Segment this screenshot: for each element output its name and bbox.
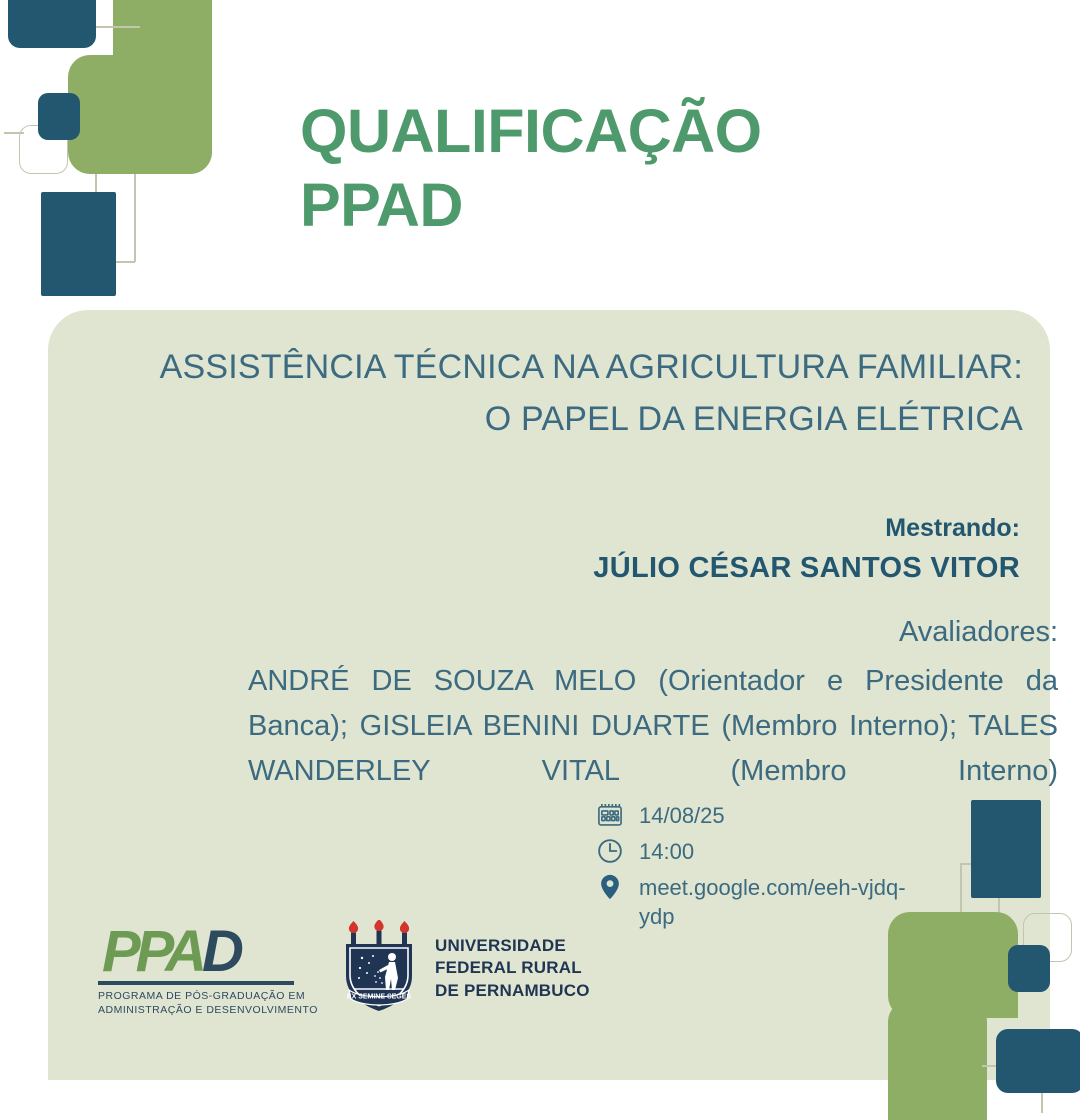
decor-blue-block xyxy=(996,1029,1080,1093)
decor-connector-line xyxy=(4,132,24,134)
ppad-wordmark-blue: D xyxy=(202,919,239,984)
ufrpe-name-line1: UNIVERSIDADE xyxy=(435,935,590,958)
thesis-title: ASSISTÊNCIA TÉCNICA NA AGRICULTURA FAMIL… xyxy=(148,342,1023,445)
ufrpe-motto-text: EX SEMINE SEGES xyxy=(347,994,412,1001)
mestrando-name: JÚLIO CÉSAR SANTOS VITOR xyxy=(220,548,1020,589)
page-title-line1: QUALIFICAÇÃO xyxy=(300,94,940,168)
decor-blue-square xyxy=(1008,945,1050,992)
detail-row-location[interactable]: meet.google.com/eeh-vjdq-ydp xyxy=(593,870,923,932)
clock-icon xyxy=(593,834,627,868)
decor-connector-line xyxy=(134,174,136,262)
decor-connector-line xyxy=(1041,1093,1043,1113)
ufrpe-name-line2: FEDERAL RURAL xyxy=(435,957,590,980)
decor-green-block xyxy=(68,55,212,174)
ppad-subtitle-line2: ADMINISTRAÇÃO E DESENVOLVIMENTO xyxy=(98,1003,298,1017)
ufrpe-name: UNIVERSIDADE FEDERAL RURAL DE PERNAMBUCO xyxy=(435,935,590,1003)
decor-green-block xyxy=(888,1000,987,1120)
ppad-wordmark: PPAD xyxy=(102,924,298,979)
calendar-icon xyxy=(593,798,627,832)
event-details: 14/08/25 14:00 meet.go xyxy=(593,798,923,934)
detail-row-date: 14/08/25 xyxy=(593,798,923,832)
detail-value-meeting-link[interactable]: meet.google.com/eeh-vjdq-ydp xyxy=(639,870,923,932)
detail-value-date: 14/08/25 xyxy=(639,798,725,830)
ufrpe-name-line3: DE PERNAMBUCO xyxy=(435,980,590,1003)
page-title-line2: PPAD xyxy=(300,168,940,242)
ufrpe-shield-icon: EX SEMINE SEGES xyxy=(336,920,422,1017)
decor-connector-line xyxy=(96,26,140,28)
mestrando-label: Mestrando: xyxy=(220,510,1020,548)
decor-blue-block xyxy=(971,800,1041,898)
ppad-logo: PPAD PROGRAMA DE PÓS-GRADUAÇÃO EM ADMINI… xyxy=(98,924,298,1017)
decor-blue-square xyxy=(38,93,80,140)
decor-blue-block xyxy=(41,192,116,296)
mestrando-block: Mestrando: JÚLIO CÉSAR SANTOS VITOR xyxy=(220,510,1020,589)
ufrpe-logo: EX SEMINE SEGES UNIVERSIDADE FEDERAL RUR… xyxy=(336,920,590,1017)
page-title: QUALIFICAÇÃO PPAD xyxy=(300,94,940,243)
logo-row: PPAD PROGRAMA DE PÓS-GRADUAÇÃO EM ADMINI… xyxy=(98,920,590,1017)
detail-value-time: 14:00 xyxy=(639,834,694,866)
avaliadores-label: Avaliadores: xyxy=(248,610,1058,655)
ppad-wordmark-green: PPA xyxy=(102,919,202,984)
location-pin-icon xyxy=(593,870,627,904)
decor-blue-block xyxy=(8,0,96,48)
ppad-subtitle-line1: PROGRAMA DE PÓS-GRADUAÇÃO EM xyxy=(98,989,298,1003)
detail-row-time: 14:00 xyxy=(593,834,923,868)
